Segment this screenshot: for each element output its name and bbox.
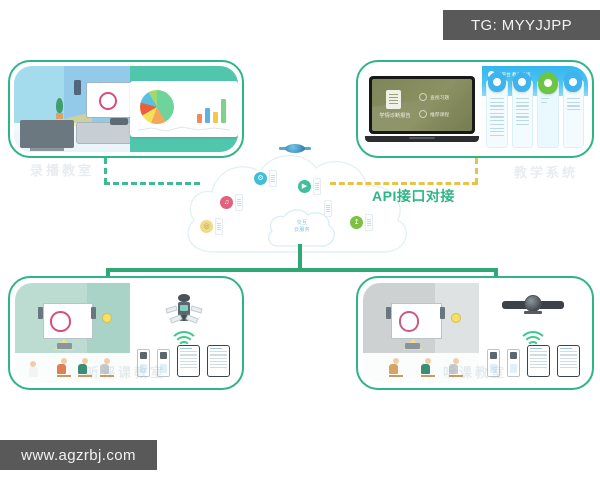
laptop-screen-title: 学情诊断报告 — [378, 113, 412, 120]
analytics-area — [130, 66, 238, 152]
video-conference-camera-icon — [502, 295, 564, 311]
dashboard-columns — [486, 80, 584, 148]
whiteboard — [391, 303, 442, 339]
play-icon: ▶ — [298, 180, 311, 193]
panel-review-classroom-caption: 听评课教室 — [15, 362, 237, 381]
circle-icon — [419, 110, 427, 118]
whiteboard-ring-icon — [50, 311, 70, 331]
analytics-chart-card — [130, 81, 238, 137]
speaker-icon — [386, 307, 391, 319]
circle-icon — [419, 93, 427, 101]
projector-icon — [110, 118, 128, 125]
column-lines — [538, 95, 558, 103]
clock-icon — [451, 313, 461, 323]
dashboard-area: 云平台 教务系统 — [482, 66, 588, 152]
dashboard-column-highlighted[interactable] — [537, 80, 559, 148]
laptop-base — [365, 136, 479, 142]
cloud-node-storage[interactable]: ↥ — [350, 214, 373, 231]
menu-item-practice[interactable]: 查视习题 — [419, 93, 465, 101]
chart-icon: ◎ — [200, 220, 213, 233]
avatar-icon-active — [538, 72, 558, 94]
whiteboard — [43, 303, 93, 339]
panel-review-classroom[interactable]: 听评课教室 — [8, 276, 244, 390]
column-lines — [564, 95, 584, 110]
teacher-desk — [76, 122, 138, 144]
laptop-illustration: 学情诊断报告 查视习题 推荐课程 — [369, 76, 475, 142]
host-svg — [164, 293, 204, 327]
projector-icon — [405, 343, 420, 349]
node-tag — [269, 170, 277, 187]
laptop-screen-menu: 查视习题 推荐课程 — [419, 93, 465, 127]
laptop-screen: 学情诊断报告 查视习题 推荐课程 — [372, 79, 472, 131]
tv-display — [20, 120, 74, 148]
connector-topleft-horizontal — [104, 182, 200, 185]
document-icon — [386, 90, 401, 109]
cloud-node-play[interactable]: ▶ — [298, 178, 321, 195]
avatar-icon — [564, 72, 582, 92]
speaker-icon — [74, 80, 81, 95]
cloud-node-extra[interactable] — [324, 200, 332, 217]
plant-pot — [56, 113, 63, 119]
dashboard-column[interactable] — [486, 80, 508, 148]
node-tag — [215, 218, 223, 235]
music-note-icon: ♫ — [220, 196, 233, 209]
diagram-canvas: 录播教室 学情诊断报告 查视习题 — [0, 0, 600, 480]
connector-api-horizontal — [330, 182, 478, 185]
recording-host-icon — [164, 293, 204, 327]
dashboard-column[interactable] — [512, 80, 534, 148]
panel-teaching-system-caption: 教学系统 — [514, 162, 578, 181]
column-lines — [487, 95, 507, 136]
panel-listening-classroom-caption: 听课教室 — [363, 362, 587, 381]
menu-item-practice-label: 查视习题 — [430, 94, 449, 101]
bar-chart-icon — [197, 97, 226, 123]
trend-line-icon — [138, 125, 230, 132]
speaker-icon — [91, 307, 96, 319]
projector-icon — [57, 343, 72, 349]
panel-listening-classroom-inner: 听课教室 — [363, 283, 587, 383]
node-tag — [324, 200, 332, 217]
laptop-area: 学情诊断报告 查视习题 推荐课程 — [362, 66, 482, 152]
node-tag — [313, 178, 321, 195]
whiteboard-ring-icon — [399, 311, 420, 331]
whiteboard-ring-icon — [99, 92, 117, 110]
api-connector-label: API接口对接 — [372, 186, 455, 206]
plant-icon — [56, 98, 63, 120]
menu-item-recommend[interactable]: 推荐课程 — [419, 110, 465, 118]
cloud-node-resource[interactable]: ♫ — [220, 194, 243, 211]
speaker-icon — [38, 307, 43, 319]
gear-icon: ⚙ — [254, 172, 267, 185]
inner-cloud-label: 交互云服务 — [264, 220, 340, 233]
panel-recording-classroom-inner — [14, 66, 238, 152]
panel-recording-classroom[interactable] — [8, 60, 244, 158]
connector-api-vertical — [475, 158, 478, 184]
panel-teaching-system[interactable]: 学情诊断报告 查视习题 推荐课程 — [356, 60, 594, 158]
cloud-upload-icon: ↥ — [350, 216, 363, 229]
panel-teaching-system-inner: 学情诊断报告 查视习题 推荐课程 — [362, 66, 588, 152]
avatar-icon — [488, 72, 506, 92]
satellite-icon — [282, 142, 308, 155]
pie-chart-icon — [140, 90, 174, 124]
avatar-icon — [513, 72, 531, 92]
connector-bus-horizontal — [106, 268, 498, 272]
plant-leaves — [56, 98, 63, 113]
laptop-lid: 学情诊断报告 查视习题 推荐课程 — [369, 76, 475, 134]
panel-listening-classroom[interactable]: 听课教室 — [356, 276, 594, 390]
dashboard-column[interactable] — [563, 80, 585, 148]
panel-review-classroom-inner: 听评课教室 — [15, 283, 237, 383]
node-tag — [365, 214, 373, 231]
classroom-illustration-top — [14, 66, 130, 152]
speaker-icon — [440, 307, 445, 319]
watermark-bottom-left: www.agzrbj.com — [0, 440, 157, 470]
connector-topleft-vertical — [104, 158, 107, 184]
panel-recording-classroom-caption: 录播教室 — [30, 160, 94, 179]
node-tag — [235, 194, 243, 211]
cloud-node-analytics[interactable]: ◎ — [200, 218, 223, 235]
watermark-top-right: TG: MYYJJPP — [443, 10, 600, 40]
clock-icon — [102, 313, 112, 323]
menu-item-recommend-label: 推荐课程 — [430, 111, 449, 118]
cloud-node-gear[interactable]: ⚙ — [254, 170, 277, 187]
column-lines — [513, 95, 533, 125]
